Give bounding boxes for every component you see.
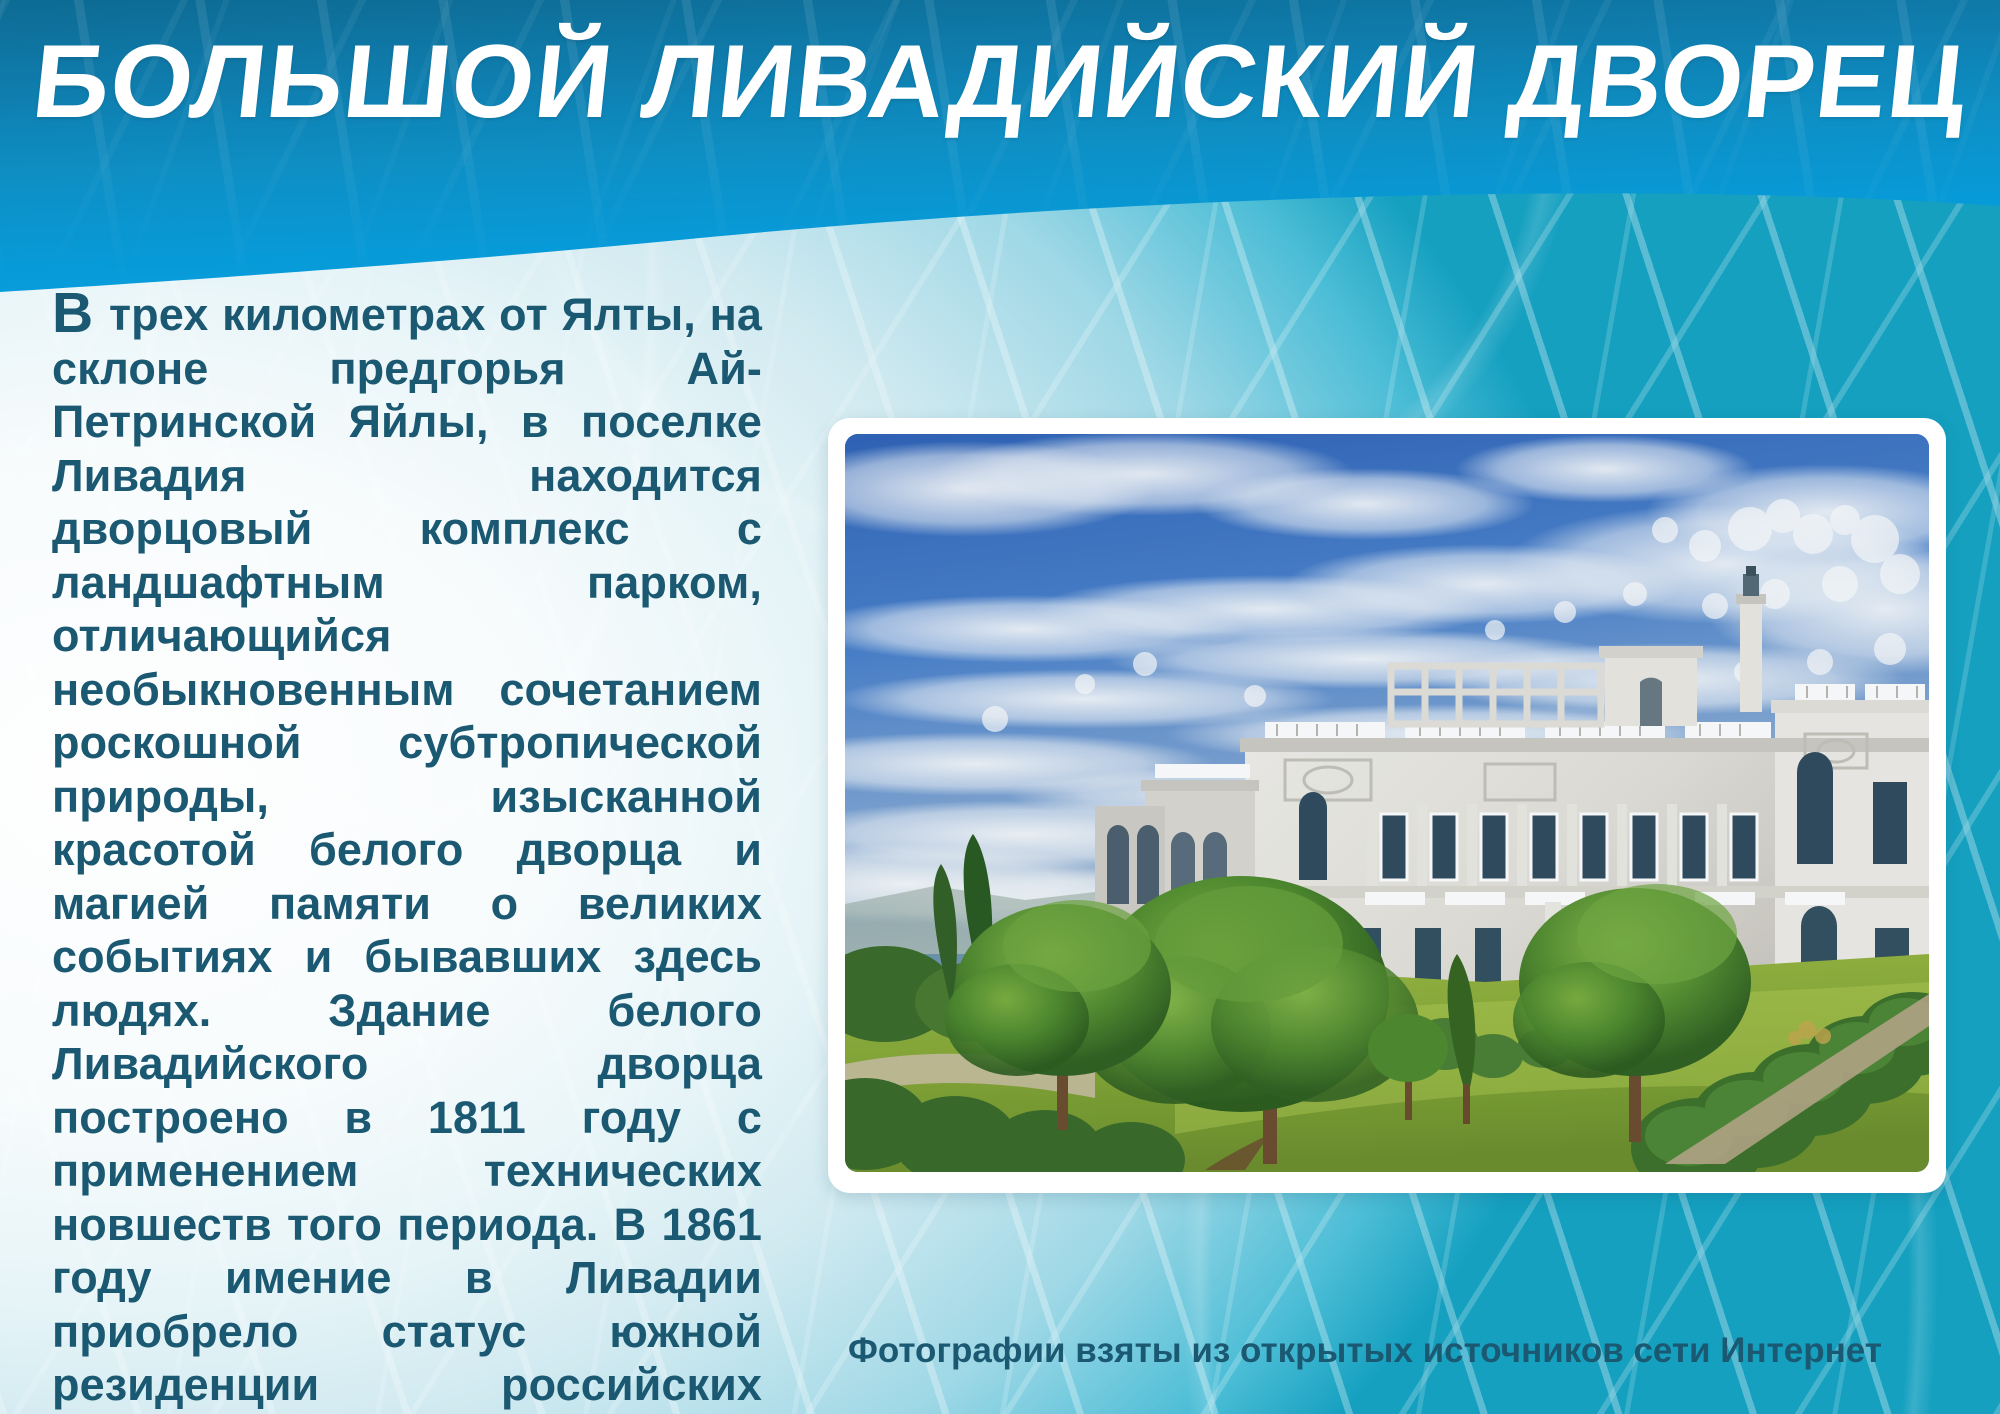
- page-title: БОЛЬШОЙ ЛИВАДИЙСКИЙ ДВОРЕЦ: [0, 30, 2000, 134]
- palace-photo: [845, 434, 1929, 1172]
- photo-card: [828, 418, 1946, 1193]
- paragraph-intro-text: трех километрах от Ялты, на склоне предг…: [52, 289, 762, 1414]
- palace-photo-illustration: [845, 434, 1929, 1172]
- paragraph-intro: В трех километрах от Ялты, на склоне пре…: [52, 288, 762, 1414]
- header-banner: БОЛЬШОЙ ЛИВАДИЙСКИЙ ДВОРЕЦ: [0, 0, 2000, 300]
- drop-cap: В: [52, 281, 95, 345]
- photo-source-caption: Фотографии взяты из открытых источников …: [848, 1330, 1882, 1372]
- article-text-column: В трех километрах от Ялты, на склоне пре…: [52, 288, 762, 1414]
- poster-page: БОЛЬШОЙ ЛИВАДИЙСКИЙ ДВОРЕЦ В трех киломе…: [0, 0, 2000, 1414]
